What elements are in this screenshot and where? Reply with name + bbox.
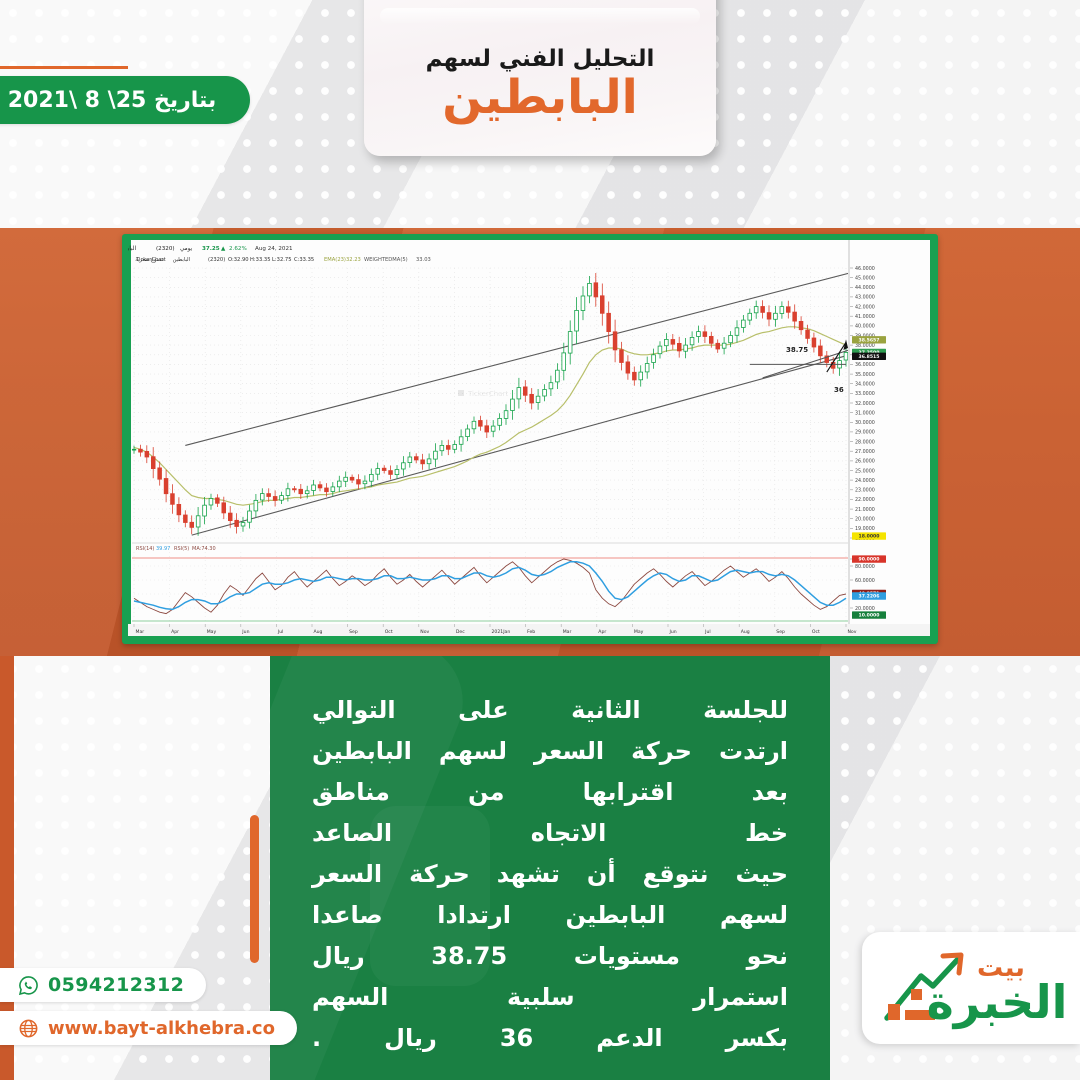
rsi-axis-marker: 10.0000 xyxy=(852,611,886,618)
time-tick-label: Nov xyxy=(420,629,429,635)
ohlc-open: O:32.90 xyxy=(228,257,249,263)
analysis-line: بكسر الدعم 36 ريال . xyxy=(312,1018,788,1059)
price-tick-label: 36.0000 xyxy=(855,362,875,368)
time-tick-label: Dec xyxy=(456,629,465,635)
ohlc-low: L:32.75 xyxy=(272,257,292,263)
price-tick-label: 27.0000 xyxy=(855,449,875,455)
analysis-panel: للجلسة الثانية على التواليارتدت حركة الس… xyxy=(270,656,830,1080)
ohlc-close: C:33.35 xyxy=(294,257,314,263)
orange-accent-bar xyxy=(250,815,259,963)
price-tick-label: 38.0000 xyxy=(855,343,875,349)
logo-word-main: الخبرة xyxy=(927,975,1068,1029)
chart-viewport[interactable]: البابطين (2320) يومي 37.25 ▲ 2.62% Aug 2… xyxy=(128,240,930,636)
price-tick-label: 21.0000 xyxy=(855,507,875,513)
quote-date: Aug 24, 2021 xyxy=(255,246,293,252)
stock-chart[interactable]: البابطين (2320) يومي 37.25 ▲ 2.62% Aug 2… xyxy=(128,240,930,636)
price-tick-label: 43.0000 xyxy=(855,295,875,301)
rsi-marker-label: 10.0000 xyxy=(859,613,880,619)
time-tick-label: May xyxy=(207,629,217,635)
time-tick-label: Sep xyxy=(776,629,785,635)
price-tick-label: 45.0000 xyxy=(855,275,875,281)
contact-whatsapp[interactable]: 0594212312 xyxy=(0,968,206,1002)
rsi-label: RSI(14) xyxy=(136,546,154,552)
price-axis-marker: 38.5657 xyxy=(852,336,886,343)
quote-code: (2320) xyxy=(156,246,175,252)
annotation-target-price: 38.75 xyxy=(786,346,808,354)
price-marker-label: 18.0000 xyxy=(859,534,880,540)
globe-icon xyxy=(18,1018,39,1039)
contact-website[interactable]: www.bayt-alkhebra.co xyxy=(0,1011,297,1045)
page-title: البابطين xyxy=(364,72,716,124)
axis-separator xyxy=(848,240,850,636)
date-badge: بتاريخ 25\ 8 \2021 xyxy=(0,76,250,124)
quote-last: 37.25 xyxy=(202,246,220,252)
analysis-line: حيث نتوقع أن تشهد حركة السعر xyxy=(312,854,788,895)
time-tick-label: Jun xyxy=(669,629,677,635)
time-tick-label: Apr xyxy=(598,629,606,635)
price-tick-label: 29.0000 xyxy=(855,430,875,436)
ohlc-high: H:33.35 xyxy=(250,257,271,263)
price-tick-label: 32.0000 xyxy=(855,401,875,407)
price-tick-label: 25.0000 xyxy=(855,468,875,474)
time-tick-label: Aug xyxy=(741,629,750,635)
quote-arrow: ▲ xyxy=(221,246,226,252)
analysis-line: للجلسة الثانية على التوالي xyxy=(312,690,788,731)
rsi-ma-label: RSI(5) xyxy=(174,546,189,552)
ohlc-series: شموع سعرية xyxy=(135,257,164,263)
price-tick-label: 44.0000 xyxy=(855,285,875,291)
ema-value: 32.23 xyxy=(346,257,361,263)
rsi-header: RSI(14) 39.97 RSI(5) MA:74.30 xyxy=(136,546,216,552)
chart-frame: البابطين (2320) يومي 37.25 ▲ 2.62% Aug 2… xyxy=(122,234,938,644)
date-badge-label: بتاريخ 25\ 8 \2021 xyxy=(8,88,217,113)
rsi-axis-marker: 37.2206 xyxy=(852,592,886,599)
annotation-support-price: 36 xyxy=(834,386,844,394)
time-tick-label: Mar xyxy=(563,629,572,635)
price-axis-marker: 18.0000 xyxy=(852,532,886,539)
price-tick-label: 31.0000 xyxy=(855,410,875,416)
rsi-tick-label: 80.0000 xyxy=(855,564,875,570)
price-marker-label: 38.5657 xyxy=(859,337,880,343)
price-tick-label: 41.0000 xyxy=(855,314,875,320)
price-axis-marker: 36.8515 xyxy=(852,353,886,360)
wma-label: WEIGHTEDMA(5) xyxy=(364,257,408,263)
analysis-text: للجلسة الثانية على التواليارتدت حركة الس… xyxy=(270,656,830,1059)
analysis-line: بعد اقترابها من مناطق xyxy=(312,772,788,813)
ohlc-symbol: البابطين xyxy=(173,257,190,263)
time-tick-label: 2021Jan xyxy=(492,629,511,635)
analysis-line: نحو مستويات 38.75 ريال xyxy=(312,936,788,977)
website-url: www.bayt-alkhebra.co xyxy=(48,1018,275,1039)
time-tick-label: Sep xyxy=(349,629,358,635)
chart-background xyxy=(128,240,930,636)
price-tick-label: 34.0000 xyxy=(855,382,875,388)
time-tick-label: Oct xyxy=(812,629,820,635)
time-tick-label: Jul xyxy=(704,629,711,635)
price-tick-label: 28.0000 xyxy=(855,439,875,445)
price-tick-label: 22.0000 xyxy=(855,497,875,503)
rsi-marker-label: 90.0000 xyxy=(859,557,880,563)
ohlc-header: TickerChart شموع سعرية البابطين (2320) O… xyxy=(135,257,431,263)
whatsapp-icon xyxy=(18,975,39,996)
page-subtitle: التحليل الفني لسهم xyxy=(364,46,716,72)
time-tick-label: Oct xyxy=(385,629,393,635)
price-tick-label: 30.0000 xyxy=(855,420,875,426)
rsi-tick-label: 60.0000 xyxy=(855,578,875,584)
whatsapp-number: 0594212312 xyxy=(48,974,184,996)
contact-block: 0594212312 www.bayt-alkhebra.co xyxy=(0,968,297,1054)
rsi-value: 39.97 xyxy=(156,546,170,552)
date-underline-rule xyxy=(0,66,128,69)
time-tick-label: Mar xyxy=(136,629,145,635)
analysis-line: ارتدت حركة السعر لسهم البابطين xyxy=(312,731,788,772)
rsi-ma-value: MA:74.30 xyxy=(192,546,216,552)
watermark-label: TickerChart xyxy=(467,390,508,398)
quote-symbol: البابطين xyxy=(128,246,136,252)
title-card: التحليل الفني لسهم البابطين xyxy=(364,0,716,156)
ohlc-code: (2320) xyxy=(208,257,225,263)
price-tick-label: 46.0000 xyxy=(855,266,875,272)
time-tick-label: Aug xyxy=(314,629,323,635)
analysis-line: لسهم البابطين ارتدادا صاعدا xyxy=(312,895,788,936)
price-tick-label: 42.0000 xyxy=(855,304,875,310)
quote-interval: يومي xyxy=(180,246,193,252)
ema-label: EMA(23) xyxy=(324,257,346,263)
frame-edge-left xyxy=(128,240,131,636)
time-tick-label: Apr xyxy=(171,629,179,635)
price-tick-label: 23.0000 xyxy=(855,488,875,494)
price-tick-label: 33.0000 xyxy=(855,391,875,397)
brand-logo: بيت الخبرة xyxy=(873,942,1069,1034)
time-tick-label: Nov xyxy=(848,629,857,635)
price-tick-label: 35.0000 xyxy=(855,372,875,378)
analysis-line: استمرار سلبية السهم xyxy=(312,977,788,1018)
price-tick-label: 20.0000 xyxy=(855,517,875,523)
analysis-line: خط الاتجاه الصاعد xyxy=(312,813,788,854)
quote-change-pct: 2.62% xyxy=(229,246,247,252)
price-tick-label: 26.0000 xyxy=(855,459,875,465)
wma-value: 33.03 xyxy=(416,257,431,263)
time-tick-label: Feb xyxy=(527,629,535,635)
price-tick-label: 40.0000 xyxy=(855,324,875,330)
rsi-tick-label: 20.0000 xyxy=(855,606,875,612)
time-tick-label: Jul xyxy=(277,629,284,635)
time-tick-label: Jun xyxy=(241,629,249,635)
rsi-marker-label: 37.2206 xyxy=(859,594,880,600)
price-marker-label: 36.8515 xyxy=(859,354,880,360)
price-tick-label: 19.0000 xyxy=(855,526,875,532)
rsi-axis-marker: 90.0000 xyxy=(852,555,886,562)
logo-card[interactable]: بيت الخبرة xyxy=(862,932,1080,1044)
time-tick-label: May xyxy=(634,629,644,635)
price-tick-label: 24.0000 xyxy=(855,478,875,484)
